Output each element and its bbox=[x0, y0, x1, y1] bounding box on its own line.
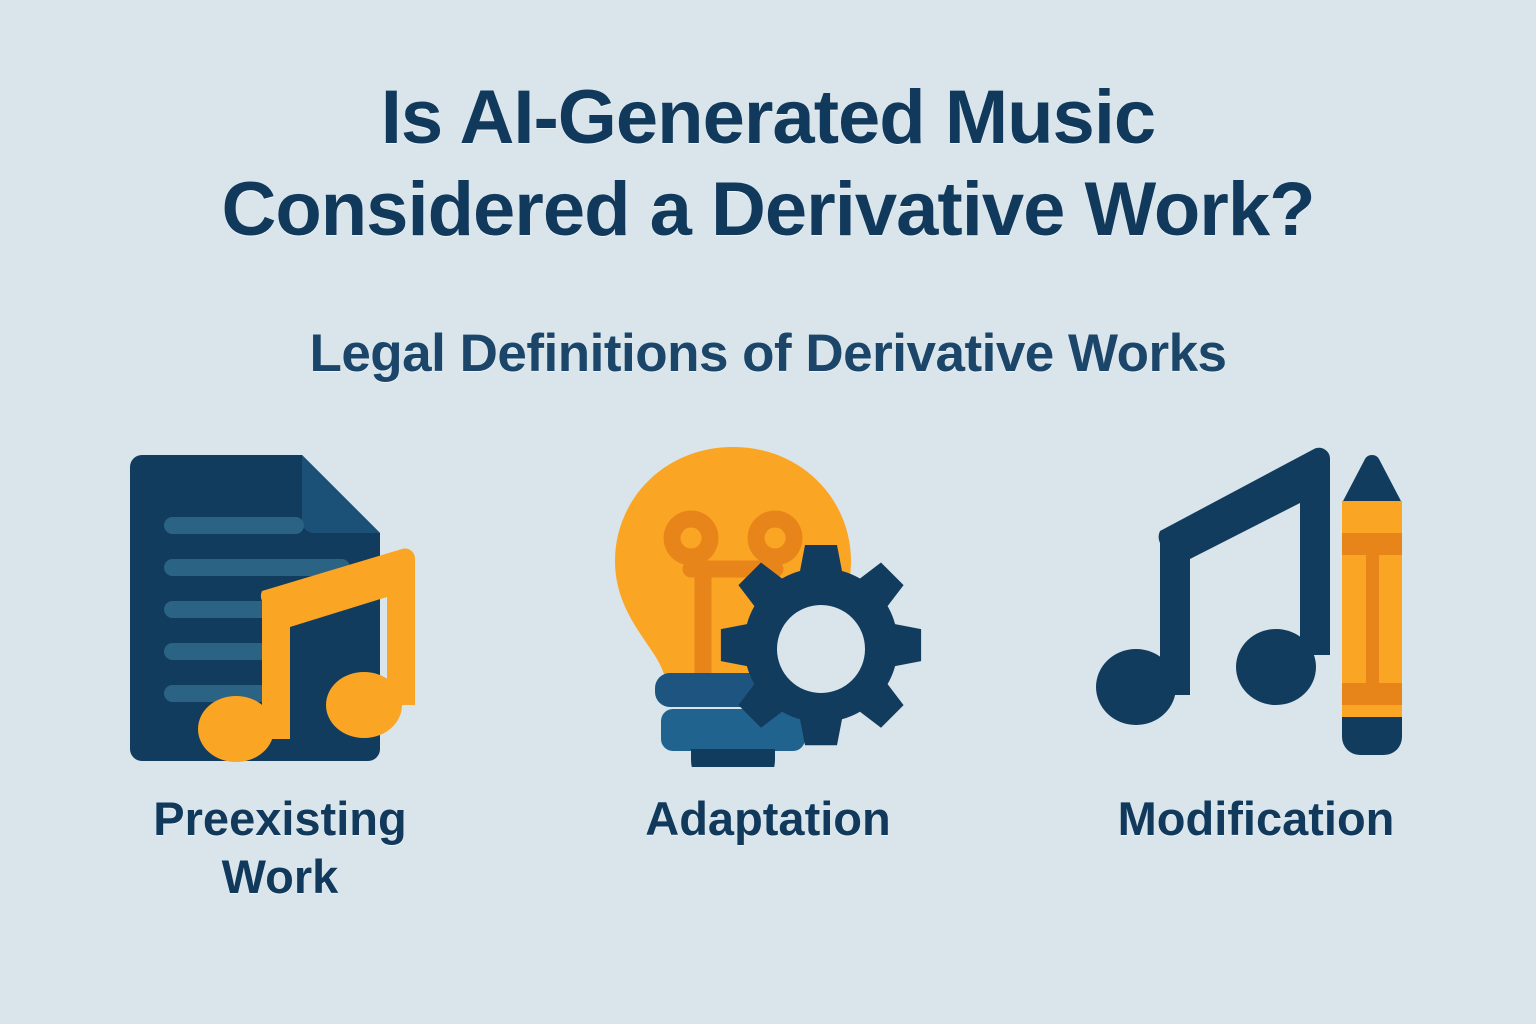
concept-card-modification: Modification bbox=[1036, 432, 1476, 848]
page-subtitle: Legal Definitions of Derivative Works bbox=[0, 322, 1536, 386]
concept-card-row: Preexisting Work bbox=[60, 432, 1476, 952]
music-note-head bbox=[1236, 629, 1316, 705]
title-line-1: Is AI-Generated Music bbox=[0, 72, 1536, 164]
document-with-music-note-icon bbox=[107, 432, 447, 772]
concept-card-preexisting-work: Preexisting Work bbox=[60, 432, 500, 906]
pencil-shape bbox=[1342, 455, 1402, 755]
infographic-canvas: Is AI-Generated Music Considered a Deriv… bbox=[0, 0, 1536, 1024]
music-note-head bbox=[1096, 649, 1176, 725]
gear-shape bbox=[721, 545, 921, 745]
gear-center-hole bbox=[777, 605, 865, 693]
subtitle-text: Legal Definitions of Derivative Works bbox=[309, 322, 1226, 386]
folded-corner-shape bbox=[302, 455, 380, 533]
pencil-tip bbox=[1342, 455, 1402, 503]
card-label-modification: Modification bbox=[1118, 790, 1395, 848]
concept-card-adaptation: Adaptation bbox=[548, 432, 988, 848]
bulb-base-tip bbox=[691, 749, 775, 767]
document-text-line bbox=[164, 517, 304, 534]
document-text-line bbox=[164, 643, 268, 660]
card-label-preexisting-work: Preexisting Work bbox=[110, 790, 450, 906]
pencil-eraser bbox=[1342, 717, 1402, 755]
music-note-with-pencil-icon bbox=[1091, 432, 1431, 772]
page-title: Is AI-Generated Music Considered a Deriv… bbox=[0, 72, 1536, 256]
lightbulb-with-gear-icon bbox=[600, 432, 940, 772]
music-note-head bbox=[326, 672, 402, 738]
card-label-adaptation: Adaptation bbox=[645, 790, 890, 848]
music-note-head bbox=[198, 696, 274, 762]
title-line-2: Considered a Derivative Work? bbox=[0, 164, 1536, 256]
bulb-base-band-lower bbox=[661, 709, 805, 751]
document-text-line bbox=[164, 601, 274, 618]
pencil-center-stripe bbox=[1366, 533, 1379, 705]
